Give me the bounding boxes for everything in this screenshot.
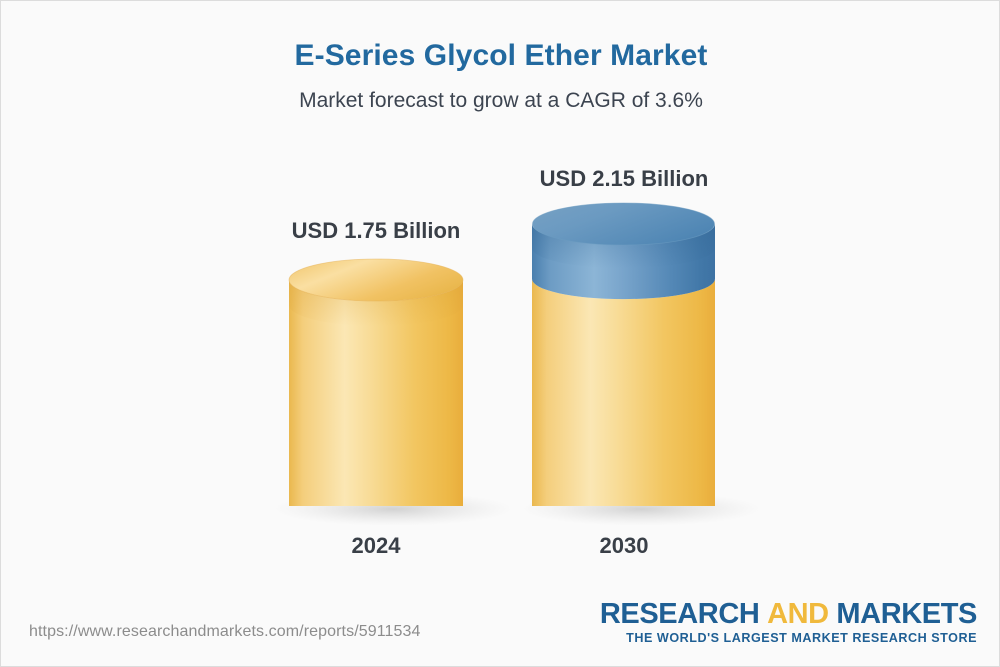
bar-2030-category-label: 2030 <box>504 533 744 559</box>
brand-word-research: RESEARCH <box>600 598 760 630</box>
bar-chart-plot <box>1 1 1000 667</box>
brand-tagline: THE WORLD'S LARGEST MARKET RESEARCH STOR… <box>600 631 977 645</box>
source-url[interactable]: https://www.researchandmarkets.com/repor… <box>29 623 421 641</box>
bar-2024[interactable] <box>273 259 513 526</box>
brand-wordmark: RESEARCH AND MARKETS <box>600 599 977 629</box>
bar-2030-base-segment <box>532 279 715 506</box>
bar-2030[interactable] <box>521 203 761 526</box>
brand-word-markets: MARKETS <box>836 598 977 630</box>
bar-2030-value-label: USD 2.15 Billion <box>504 166 744 192</box>
brand-logo[interactable]: RESEARCH AND MARKETS THE WORLD'S LARGEST… <box>600 599 977 645</box>
brand-word-and: AND <box>767 598 829 630</box>
bar-2024-category-label: 2024 <box>256 533 496 559</box>
bar-2024-value-label: USD 1.75 Billion <box>256 218 496 244</box>
chart-page: E-Series Glycol Ether Market Market fore… <box>0 0 1000 667</box>
